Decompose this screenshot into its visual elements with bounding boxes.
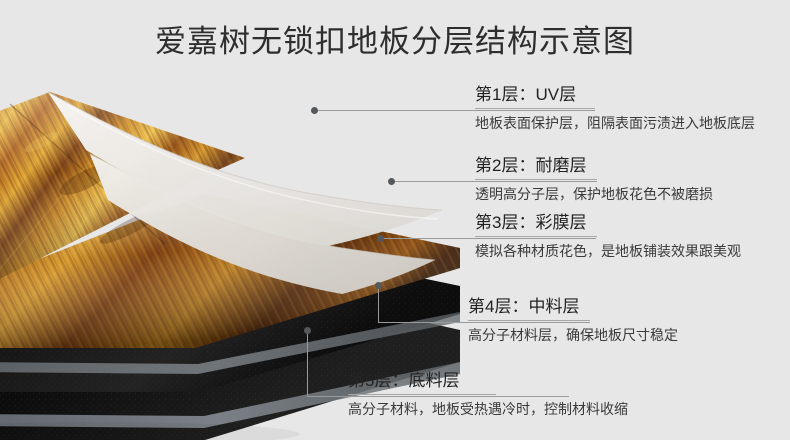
callout-layer-2-title: 第2层：耐磨层 bbox=[475, 155, 787, 177]
flooring-structure-diagram: 爱嘉树无锁扣地板分层结构示意图 bbox=[0, 0, 790, 440]
callout-layer-3: 第3层：彩膜层 模拟各种材质花色，是地板铺装效果跟美观 bbox=[475, 212, 787, 261]
callout-layer-1: 第1层：UV层 地板表面保护层，阻隔表面污渍进入地板底层 bbox=[475, 84, 787, 133]
leader-dot-layer-2 bbox=[388, 178, 395, 185]
callout-layer-2-desc: 透明高分子层，保护地板花色不被磨损 bbox=[475, 184, 787, 204]
callout-layer-5: 第5层：底料层 高分子材料，地板受热遇冷时，控制材料收缩 bbox=[348, 370, 778, 419]
callout-layer-5-rule bbox=[348, 394, 496, 395]
callout-layer-2-rule bbox=[475, 179, 597, 180]
callout-layer-3-title: 第3层：彩膜层 bbox=[475, 212, 787, 234]
callout-layer-4-title: 第4层：中料层 bbox=[468, 296, 786, 318]
callout-layer-1-title: 第1层：UV层 bbox=[475, 84, 787, 106]
callout-layer-5-desc: 高分子材料，地板受热遇冷时，控制材料收缩 bbox=[348, 399, 778, 419]
callout-layer-1-rule bbox=[475, 108, 595, 109]
callout-layer-2: 第2层：耐磨层 透明高分子层，保护地板花色不被磨损 bbox=[475, 155, 787, 204]
callout-layer-3-rule bbox=[475, 236, 597, 237]
leader-dot-layer-3 bbox=[377, 235, 384, 242]
callout-layer-4-rule bbox=[468, 320, 590, 321]
callout-layer-5-title: 第5层：底料层 bbox=[348, 370, 778, 392]
leader-dot-layer-1 bbox=[311, 107, 318, 114]
leader-dot-layer-4 bbox=[375, 282, 382, 289]
page-title: 爱嘉树无锁扣地板分层结构示意图 bbox=[0, 16, 790, 61]
leader-dot-layer-5 bbox=[304, 327, 311, 334]
callout-layer-1-desc: 地板表面保护层，阻隔表面污渍进入地板底层 bbox=[475, 113, 787, 133]
callout-layer-4: 第4层：中料层 高分子材料层，确保地板尺寸稳定 bbox=[468, 296, 786, 345]
callout-layer-4-desc: 高分子材料层，确保地板尺寸稳定 bbox=[468, 325, 786, 345]
callout-layer-3-desc: 模拟各种材质花色，是地板铺装效果跟美观 bbox=[475, 241, 787, 261]
